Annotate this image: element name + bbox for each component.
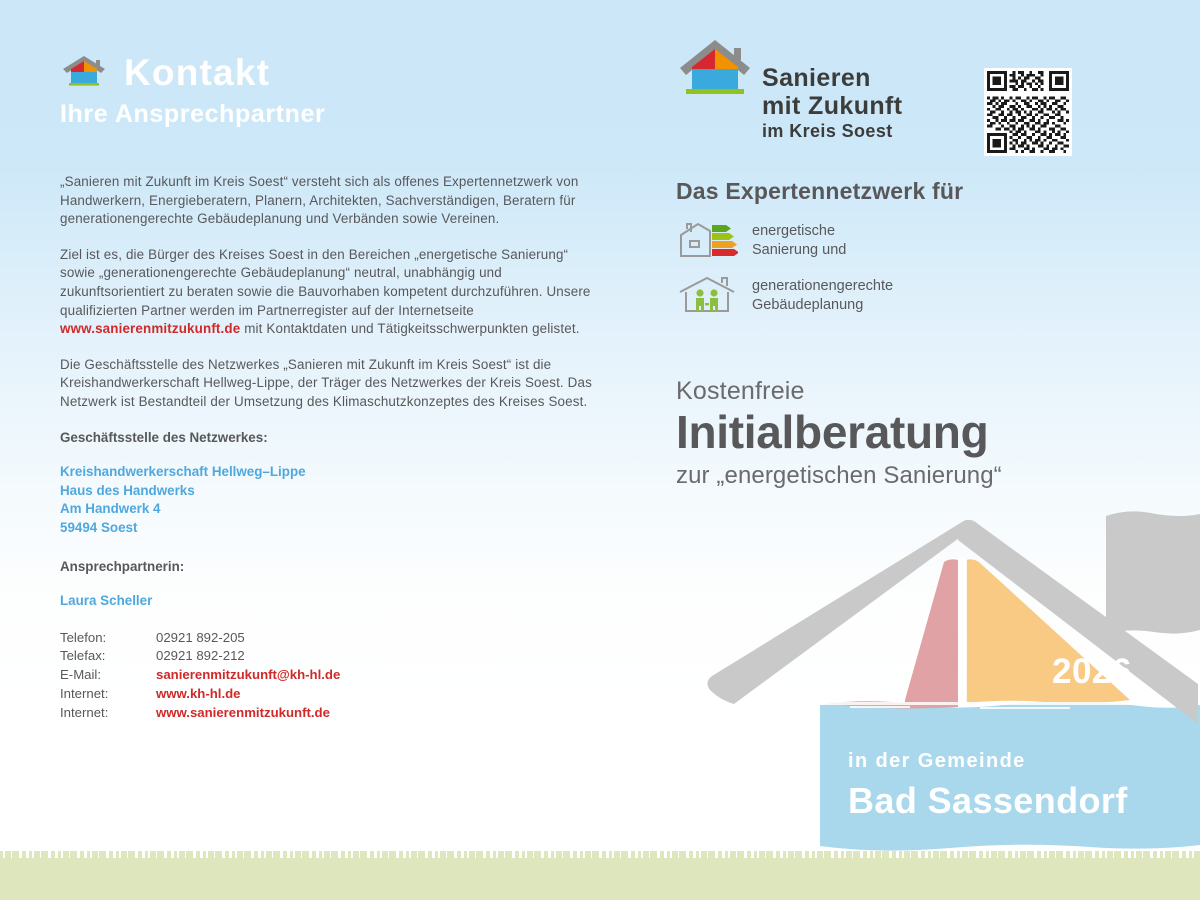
contact-person-name: Laura Scheller — [60, 592, 600, 611]
offer-block: Kostenfreie Initialberatung zur „energet… — [676, 377, 1176, 490]
contact-row-value: 02921 892-205 — [156, 629, 340, 648]
offer-column: Sanieren mit Zukunft im Kreis Soest — [676, 34, 1176, 490]
address-line-3: Am Handwerk 4 — [60, 500, 600, 519]
page-title: Kontakt — [124, 52, 270, 94]
contact-row-value[interactable]: www.kh-hl.de — [156, 685, 340, 704]
contact-row: Internet:www.kh-hl.de — [60, 685, 340, 704]
goal-paragraph-part2: mit Kontaktdaten und Tätigkeitsschwerpun… — [240, 321, 579, 336]
offer-post-label: zur „energetischen Sanierung“ — [676, 462, 1176, 490]
house-logo-icon — [676, 34, 754, 111]
expert-item-generationengerechte-text: generationengerechte Gebäudeplanung — [752, 274, 893, 315]
partner-register-url[interactable]: www.sanierenmitzukunft.de — [60, 321, 240, 336]
energy-label-house-icon — [676, 219, 738, 266]
house-illustration — [700, 462, 1200, 858]
expert-network-heading: Das Expertennetzwerk für — [676, 178, 1176, 205]
contact-column: Kontakt Ihre Ansprechpartner „Sanieren m… — [60, 52, 600, 722]
contact-row: Telefax:02921 892-212 — [60, 647, 340, 666]
office-label: Geschäftsstelle des Netzwerkes: — [60, 429, 600, 448]
expert-item-energetische-line2: Sanierung und — [752, 241, 846, 260]
goal-paragraph: Ziel ist es, die Bürger des Kreises Soes… — [60, 246, 600, 339]
contact-row: Telefon:02921 892-205 — [60, 629, 340, 648]
expert-item-generationengerechte-line1: generationengerechte — [752, 277, 893, 296]
contact-row: Internet:www.sanierenmitzukunft.de — [60, 704, 340, 723]
brand-logo: Sanieren mit Zukunft im Kreis Soest — [676, 34, 902, 140]
contact-details-body: Telefon:02921 892-205Telefax:02921 892-2… — [60, 629, 340, 723]
contact-details-table: Telefon:02921 892-205Telefax:02921 892-2… — [60, 629, 340, 723]
kontakt-header: Kontakt — [60, 52, 600, 94]
offer-main-title: Initialberatung — [676, 408, 1176, 458]
generations-house-icon — [676, 274, 738, 321]
page-subtitle: Ihre Ansprechpartner — [60, 100, 600, 129]
expert-item-energetische-text: energetische Sanierung und — [752, 219, 846, 260]
qr-code-icon[interactable] — [984, 68, 1072, 156]
contact-row-label: Telefon: — [60, 629, 156, 648]
address-line-1: Kreishandwerkerschaft Hellweg–Lippe — [60, 463, 600, 482]
contact-row-label: Telefax: — [60, 647, 156, 666]
contact-row: E-Mail:sanierenmitzukunft@kh-hl.de — [60, 666, 340, 685]
address-line-4: 59494 Soest — [60, 519, 600, 538]
brand-row: Sanieren mit Zukunft im Kreis Soest — [676, 34, 1176, 152]
footer-green-band — [0, 858, 1200, 900]
goal-paragraph-part1: Ziel ist es, die Bürger des Kreises Soes… — [60, 247, 591, 318]
contact-row-value: 02921 892-212 — [156, 647, 340, 666]
expert-item-energetische-line1: energetische — [752, 222, 846, 241]
expert-item-generationengerechte-line2: Gebäudeplanung — [752, 296, 893, 315]
address-line-2: Haus des Handwerks — [60, 482, 600, 501]
expert-item-energetische: energetische Sanierung und — [676, 219, 1176, 266]
expert-item-generationengerechte: generationengerechte Gebäudeplanung — [676, 274, 1176, 321]
contact-row-value[interactable]: sanierenmitzukunft@kh-hl.de — [156, 666, 340, 685]
intro-paragraph: „Sanieren mit Zukunft im Kreis Soest“ ve… — [60, 173, 600, 229]
house-logo-icon — [60, 54, 108, 93]
brand-line-3: im Kreis Soest — [762, 122, 902, 140]
contact-row-label: Internet: — [60, 704, 156, 723]
contact-person-label: Ansprechpartnerin: — [60, 558, 600, 577]
contact-row-label: Internet: — [60, 685, 156, 704]
contact-row-value[interactable]: www.sanierenmitzukunft.de — [156, 704, 340, 723]
offer-pre-label: Kostenfreie — [676, 377, 1176, 406]
brand-wordmark: Sanieren mit Zukunft im Kreis Soest — [762, 34, 902, 140]
brochure-page: Kontakt Ihre Ansprechpartner „Sanieren m… — [0, 0, 1200, 900]
office-address: Kreishandwerkerschaft Hellweg–Lippe Haus… — [60, 463, 600, 537]
brand-line-2: mit Zukunft — [762, 94, 902, 119]
contact-row-label: E-Mail: — [60, 666, 156, 685]
office-paragraph: Die Geschäftsstelle des Netzwerkes „Sani… — [60, 356, 600, 412]
brand-line-1: Sanieren — [762, 66, 902, 91]
